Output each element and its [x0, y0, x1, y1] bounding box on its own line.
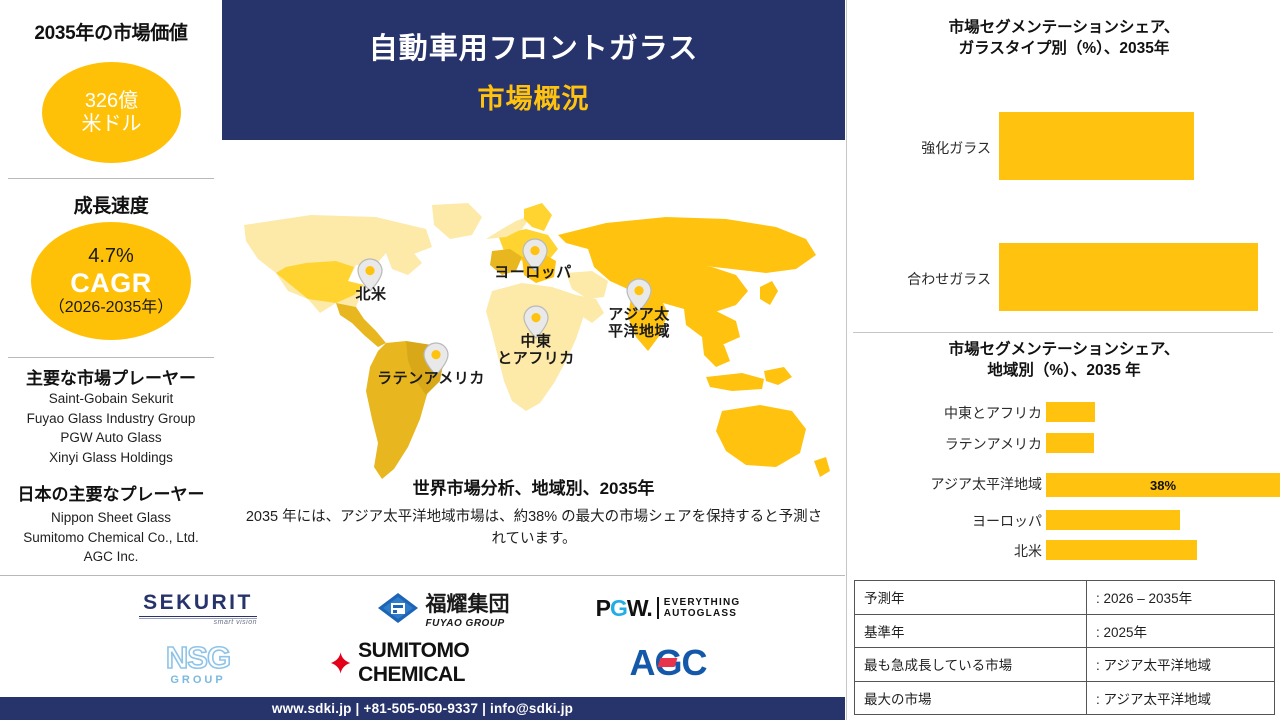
footer-contact-text: www.sdki.jp | +81-505-050-9337 | info@sd… — [272, 701, 573, 716]
bar-label-north-america: 北米 — [857, 541, 1042, 561]
logo-nsg: NSG GROUP — [118, 638, 278, 688]
chart-glass-type-title-line2: ガラスタイプ別（%）、2035年 — [854, 39, 1274, 60]
chart-divider — [853, 332, 1273, 333]
logo-sekurit: SEKURIT smart vision — [118, 584, 278, 632]
list-item: Nippon Sheet Glass — [0, 508, 222, 528]
cagr-ellipse: 4.7% CAGR （2026-2035年） — [31, 222, 191, 340]
list-item: Sumitomo Chemical Co., Ltd. — [0, 528, 222, 548]
map-label-europe: ヨーロッパ — [463, 264, 603, 281]
page-subtitle: 市場概況 — [478, 77, 590, 116]
bar-north-america — [1046, 540, 1197, 560]
growth-heading: 成長速度 — [0, 191, 222, 218]
sumitomo-wordmark: SUMITOMO CHEMICAL — [358, 639, 555, 687]
summary-table: 予測年 : 2026 – 2035年 基準年 : 2025年 最も急成長している… — [854, 580, 1275, 715]
sekurit-wordmark: SEKURIT — [143, 591, 253, 615]
table-row: 基準年 : 2025年 — [855, 614, 1275, 648]
divider-1 — [8, 178, 214, 179]
table-cell-key: 最も急成長している市場 — [855, 648, 1087, 682]
table-cell-value: : 2026 – 2035年 — [1087, 581, 1275, 615]
chart-region-title-line2: 地域別（%）、2035 年 — [854, 361, 1274, 382]
table-cell-value: : アジア太平洋地域 — [1087, 648, 1275, 682]
cagr-metric: CAGR — [70, 268, 152, 299]
sekurit-tagline: smart vision — [214, 619, 257, 626]
key-players-heading: 主要な市場プレーヤー — [0, 364, 222, 389]
bar-tempered-glass — [999, 112, 1194, 180]
table-cell-key: 基準年 — [855, 614, 1087, 648]
map-label-asia-pacific: アジア太 平洋地域 — [580, 306, 698, 341]
chart-region-title: 市場セグメンテーションシェア、 地域別（%）、2035 年 — [854, 340, 1274, 382]
chart-glass-type-title-line1: 市場セグメンテーションシェア、 — [854, 18, 1274, 39]
table-row: 予測年 : 2026 – 2035年 — [855, 581, 1275, 615]
bar-label-latin-america: ラテンアメリカ — [857, 434, 1042, 454]
table-cell-value: : 2025年 — [1087, 614, 1275, 648]
list-item: AGC Inc. — [0, 547, 222, 567]
bar-label-middle-east-africa: 中東とアフリカ — [857, 403, 1042, 423]
bar-label-tempered-glass: 強化ガラス — [859, 138, 991, 158]
bar-label-laminated-glass: 合わせガラス — [859, 269, 991, 289]
fuyao-en-wordmark: FUYAO GROUP — [426, 618, 510, 629]
fuyao-mark-icon — [376, 591, 420, 625]
market-value-line1: 326億 — [85, 90, 138, 113]
logo-pgw: PGW. EVERYTHING AUTOGLASS — [578, 584, 758, 632]
list-item: Fuyao Glass Industry Group — [0, 409, 222, 429]
map-label-north-america: 北米 — [330, 286, 412, 303]
nsg-wordmark: NSG — [166, 640, 230, 676]
market-value-line2: 米ドル — [82, 113, 142, 136]
pgw-wordmark: PGW. — [596, 595, 652, 622]
contact-footer-bar: www.sdki.jp | +81-505-050-9337 | info@sd… — [0, 697, 845, 720]
japan-players-list: Nippon Sheet Glass Sumitomo Chemical Co.… — [0, 508, 222, 567]
nsg-sub-wordmark: GROUP — [170, 674, 225, 686]
header-banner: 自動車用フロントガラス 市場概況 — [222, 0, 845, 140]
bar-label-asia-pacific: アジア太平洋地域 — [857, 474, 1042, 494]
bar-latin-america — [1046, 433, 1094, 453]
bar-value-asia-pacific: 38% — [1150, 478, 1176, 493]
pgw-tagline-line2: AUTOGLASS — [664, 608, 741, 619]
table-cell-key: 最大の市場 — [855, 681, 1087, 715]
agc-wordmark: AGC — [630, 642, 707, 684]
agc-accent-mark — [657, 658, 677, 667]
logo-fuyao: 福耀集団 FUYAO GROUP — [345, 584, 540, 632]
page-title: 自動車用フロントガラス — [369, 25, 698, 67]
list-item: Saint-Gobain Sekurit — [0, 389, 222, 409]
logo-agc: AGC — [578, 638, 758, 688]
pgw-letter-p: P — [596, 595, 610, 621]
cagr-percent: 4.7% — [88, 245, 134, 268]
map-caption-body: 2035 年には、アジア太平洋地域市場は、約38% の最大の市場シェアを保持する… — [244, 506, 824, 551]
bar-middle-east-africa — [1046, 402, 1095, 422]
fuyao-cn-wordmark: 福耀集団 — [426, 588, 510, 618]
bar-europe — [1046, 510, 1180, 530]
market-value-heading: 2035年の市場価値 — [0, 18, 222, 45]
map-label-latin-america: ラテンアメリカ — [331, 370, 531, 387]
sumitomo-diamond-icon — [330, 650, 351, 676]
table-cell-key: 予測年 — [855, 581, 1087, 615]
bar-laminated-glass — [999, 243, 1258, 311]
pgw-tagline-line1: EVERYTHING — [664, 597, 741, 608]
table-cell-value: : アジア太平洋地域 — [1087, 681, 1275, 715]
logo-sumitomo: SUMITOMO CHEMICAL — [330, 638, 555, 688]
partner-logo-strip: SEKURIT smart vision 福耀集団 FUYAO GROUP — [0, 575, 845, 697]
chart-glass-type-title: 市場セグメンテーションシェア、 ガラスタイプ別（%）、2035年 — [854, 18, 1274, 60]
cagr-period: （2026-2035年） — [49, 299, 174, 317]
infographic-page: 2035年の市場価値 326億 米ドル 成長速度 4.7% CAGR （2026… — [0, 0, 1280, 720]
table-row: 最も急成長している市場 : アジア太平洋地域 — [855, 648, 1275, 682]
key-players-list: Saint-Gobain Sekurit Fuyao Glass Industr… — [0, 389, 222, 467]
chart-region-title-line1: 市場セグメンテーションシェア、 — [854, 340, 1274, 361]
pgw-letter-w: W. — [627, 595, 652, 621]
map-caption-title: 世界市場分析、地域別、2035年 — [222, 474, 845, 499]
market-value-ellipse: 326億 米ドル — [42, 62, 181, 163]
table-row: 最大の市場 : アジア太平洋地域 — [855, 681, 1275, 715]
japan-players-heading: 日本の主要なプレーヤー — [0, 480, 222, 505]
pgw-letter-g: G — [610, 595, 627, 621]
divider-2 — [8, 357, 214, 358]
list-item: Xinyi Glass Holdings — [0, 448, 222, 468]
list-item: PGW Auto Glass — [0, 428, 222, 448]
bar-label-europe: ヨーロッパ — [857, 511, 1042, 531]
